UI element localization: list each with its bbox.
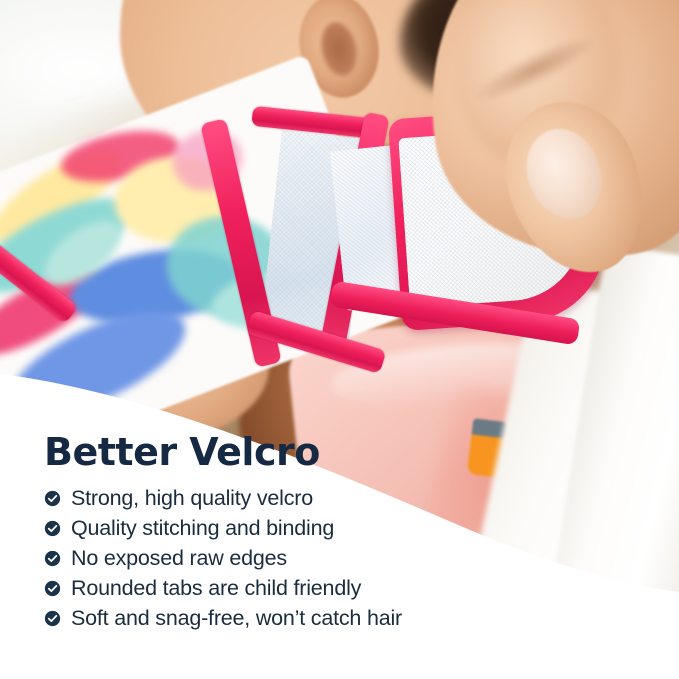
check-circle-icon xyxy=(44,550,61,567)
list-item-label: Quality stitching and binding xyxy=(71,515,334,541)
feature-text-panel: Better Velcro Strong, high quality velcr… xyxy=(0,430,679,633)
list-item: Strong, high quality velcro xyxy=(44,483,679,513)
check-circle-icon xyxy=(44,520,61,537)
product-feature-card: Better Velcro Strong, high quality velcr… xyxy=(0,0,679,679)
check-circle-icon xyxy=(44,580,61,597)
list-item: No exposed raw edges xyxy=(44,543,679,573)
list-item-label: Strong, high quality velcro xyxy=(71,485,313,511)
check-circle-icon xyxy=(44,610,61,627)
list-item-label: No exposed raw edges xyxy=(71,545,287,571)
list-item: Quality stitching and binding xyxy=(44,513,679,543)
list-item-label: Rounded tabs are child friendly xyxy=(71,575,361,601)
page-title: Better Velcro xyxy=(44,430,679,474)
feature-bullet-list: Strong, high quality velcro Quality stit… xyxy=(44,483,679,633)
list-item: Rounded tabs are child friendly xyxy=(44,573,679,603)
list-item-label: Soft and snag-free, won’t catch hair xyxy=(71,605,402,631)
check-circle-icon xyxy=(44,490,61,507)
list-item: Soft and snag-free, won’t catch hair xyxy=(44,603,679,633)
